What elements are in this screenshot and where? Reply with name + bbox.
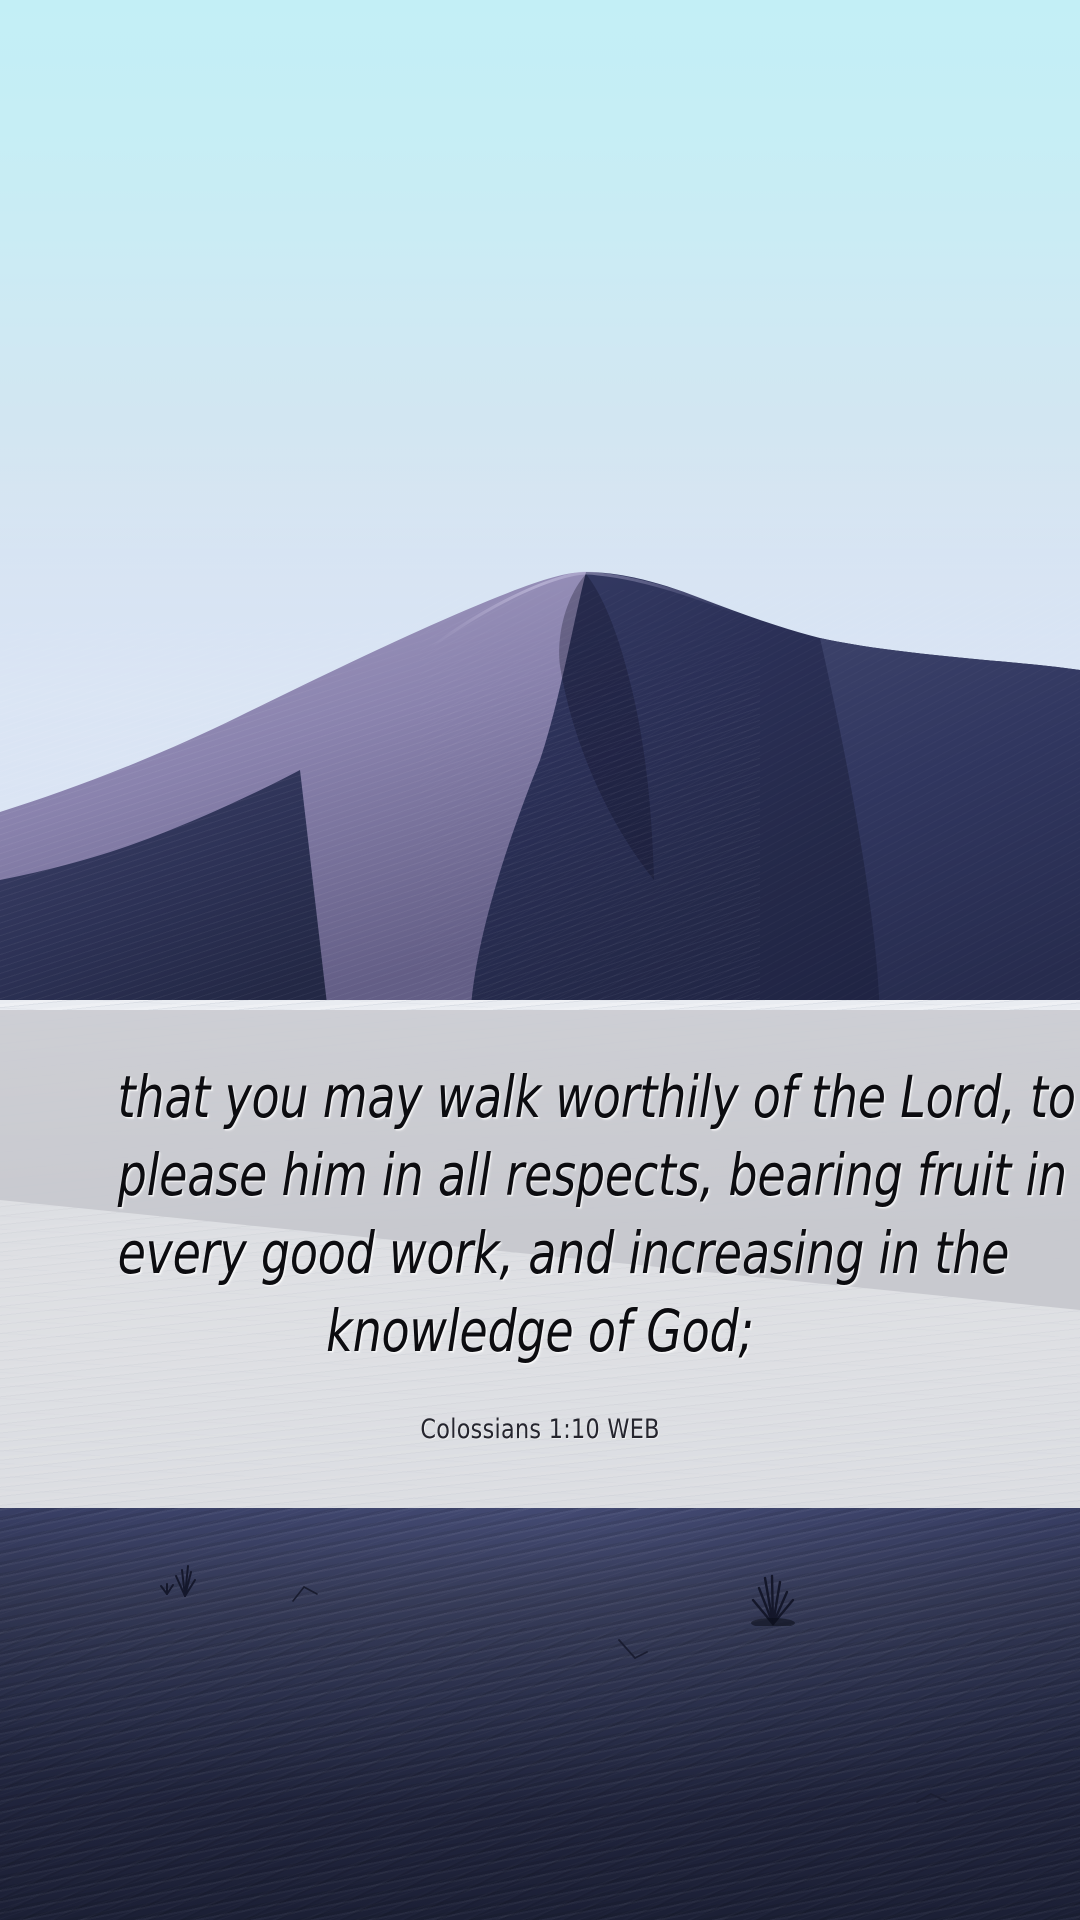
desert-twig-icon — [915, 1788, 949, 1808]
dark-sand-field — [0, 1508, 1080, 1920]
dune-landscape — [0, 0, 1080, 1030]
desert-plant-icon — [155, 1556, 225, 1598]
verse-text-block: that you may walk worthily of the Lord, … — [0, 1010, 1080, 1508]
verse-quote: that you may walk worthily of the Lord, … — [118, 1058, 963, 1370]
verse-line-1: that you may walk worthily of the Lord, … — [118, 1058, 963, 1136]
wallpaper-screen: that you may walk worthily of the Lord, … — [0, 0, 1080, 1920]
verse-line-2: please him in all respects, bearing frui… — [118, 1136, 963, 1214]
verse-line-3: every good work, and increasing in the — [118, 1214, 963, 1292]
desert-twig-icon — [615, 1636, 651, 1662]
dune-shapes — [0, 0, 1080, 1030]
desert-twig-icon — [290, 1583, 320, 1605]
verse-line-4: knowledge of God; — [118, 1292, 963, 1370]
verse-reference: Colossians 1:10 WEB — [420, 1414, 659, 1445]
desert-plant-icon — [735, 1570, 819, 1626]
